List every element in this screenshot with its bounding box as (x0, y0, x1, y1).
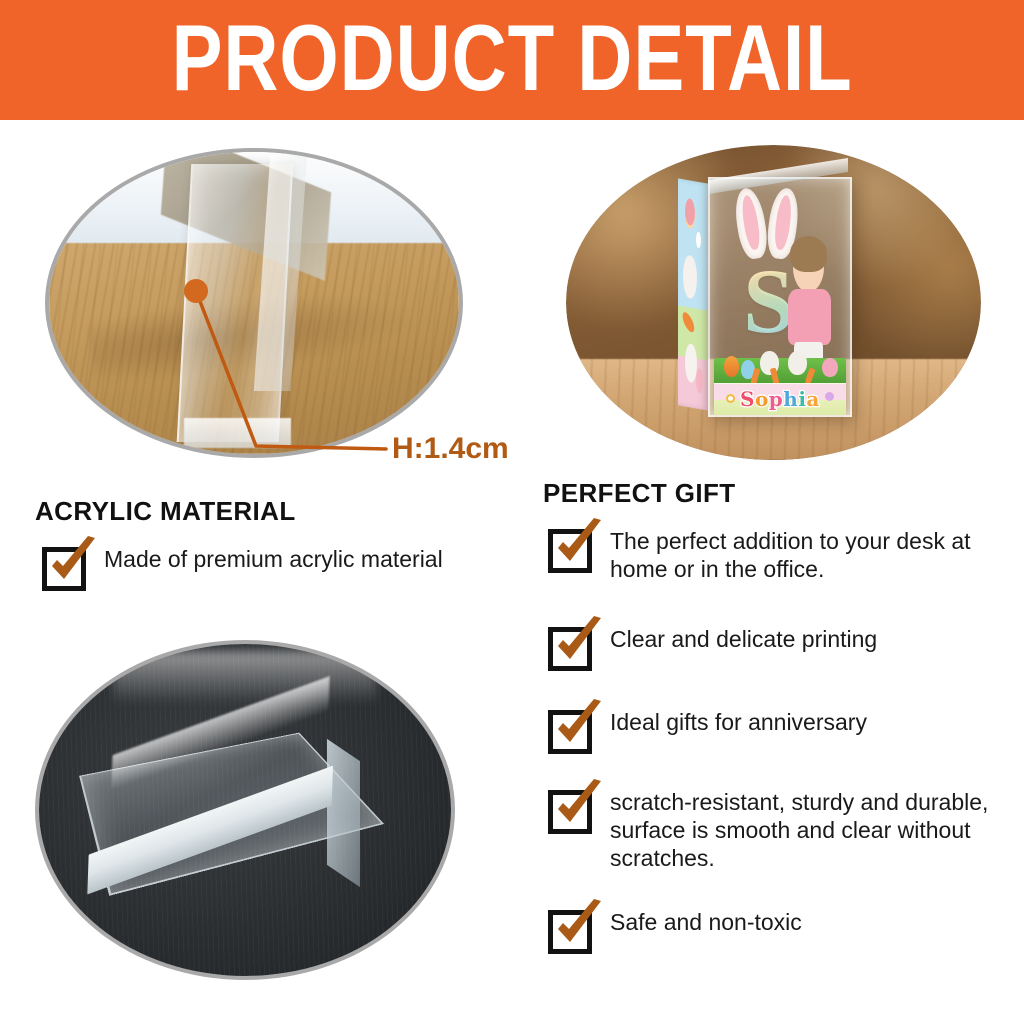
plate-flower-icon-right (825, 392, 834, 401)
checkmark-icon (550, 779, 606, 835)
child-hair (790, 236, 827, 271)
gift-box-scene: S (566, 145, 981, 460)
easter-egg-icon-1 (724, 356, 739, 377)
section-heading-acrylic-material: ACRYLIC MATERIAL (35, 496, 296, 527)
section-heading-perfect-gift: PERFECT GIFT (543, 478, 736, 509)
acrylic-edge-scene (49, 152, 459, 454)
name-letter-5: a (806, 387, 819, 411)
feature-item-gift-2: Ideal gifts for anniversary (548, 708, 988, 754)
dimension-label-height: H:1.4cm (392, 432, 509, 466)
name-letter-3: h (783, 387, 798, 411)
side-bunny-icon (683, 254, 696, 299)
name-letter-0: S (740, 387, 755, 411)
image-acrylic-edge-on-wood-table (45, 148, 463, 458)
easter-egg-icon-4 (788, 351, 806, 375)
acrylic-block-scene (39, 644, 451, 976)
checkbox-icon (548, 910, 592, 954)
slate-highlight (113, 651, 377, 704)
feature-text: Made of premium acrylic material (104, 545, 443, 573)
personalized-name-plate: Sophia (714, 383, 846, 415)
name-letter-2: p (769, 387, 783, 411)
product-gift-box: S (699, 177, 848, 413)
feature-item-acrylic-0: Made of premium acrylic material (42, 545, 512, 591)
checkbox-icon (548, 710, 592, 754)
name-letter-1: o (755, 387, 769, 411)
feature-item-gift-0: The perfect addition to your desk at hom… (548, 527, 988, 583)
personalized-name-text: Sophia (740, 389, 820, 409)
box-side-panel (678, 179, 708, 411)
feature-item-gift-4: Safe and non-toxic (548, 908, 988, 954)
checkmark-icon (550, 616, 606, 672)
side-carrot-icon (680, 311, 696, 333)
feature-text: The perfect addition to your desk at hom… (610, 527, 988, 583)
side-flower-icon (696, 232, 701, 249)
checkbox-icon (548, 790, 592, 834)
acrylic-base-reflection (184, 418, 291, 448)
checkbox-icon (548, 529, 592, 573)
box-clear-front: S (708, 177, 852, 417)
checkbox-icon (42, 547, 86, 591)
checkbox-icon (548, 627, 592, 671)
product-detail-page: PRODUCT DETAIL H:1.4cm (0, 0, 1024, 1024)
checkmark-icon (550, 699, 606, 755)
image-acrylic-block-on-slate (35, 640, 455, 980)
plate-flower-icon-left (726, 394, 735, 403)
image-easter-gift-box: S (566, 145, 981, 460)
feature-text: Ideal gifts for anniversary (610, 708, 867, 736)
header-bar: PRODUCT DETAIL (0, 0, 1024, 120)
feature-item-gift-1: Clear and delicate printing (548, 625, 988, 671)
child-shirt (788, 289, 831, 345)
feature-text: scratch-resistant, sturdy and durable, s… (610, 788, 998, 872)
feature-text: Safe and non-toxic (610, 908, 802, 936)
feature-item-gift-3: scratch-resistant, sturdy and durable, s… (548, 788, 998, 872)
side-easter-egg-icon-2 (696, 368, 703, 394)
easter-egg-icon-5 (822, 358, 837, 377)
page-title: PRODUCT DETAIL (172, 12, 853, 105)
checkmark-icon (550, 899, 606, 955)
checkmark-icon (44, 536, 100, 592)
acrylic-block-right-edge (327, 739, 360, 887)
checkmark-icon (550, 518, 606, 574)
feature-text: Clear and delicate printing (610, 625, 877, 653)
side-easter-egg-icon (684, 198, 694, 229)
